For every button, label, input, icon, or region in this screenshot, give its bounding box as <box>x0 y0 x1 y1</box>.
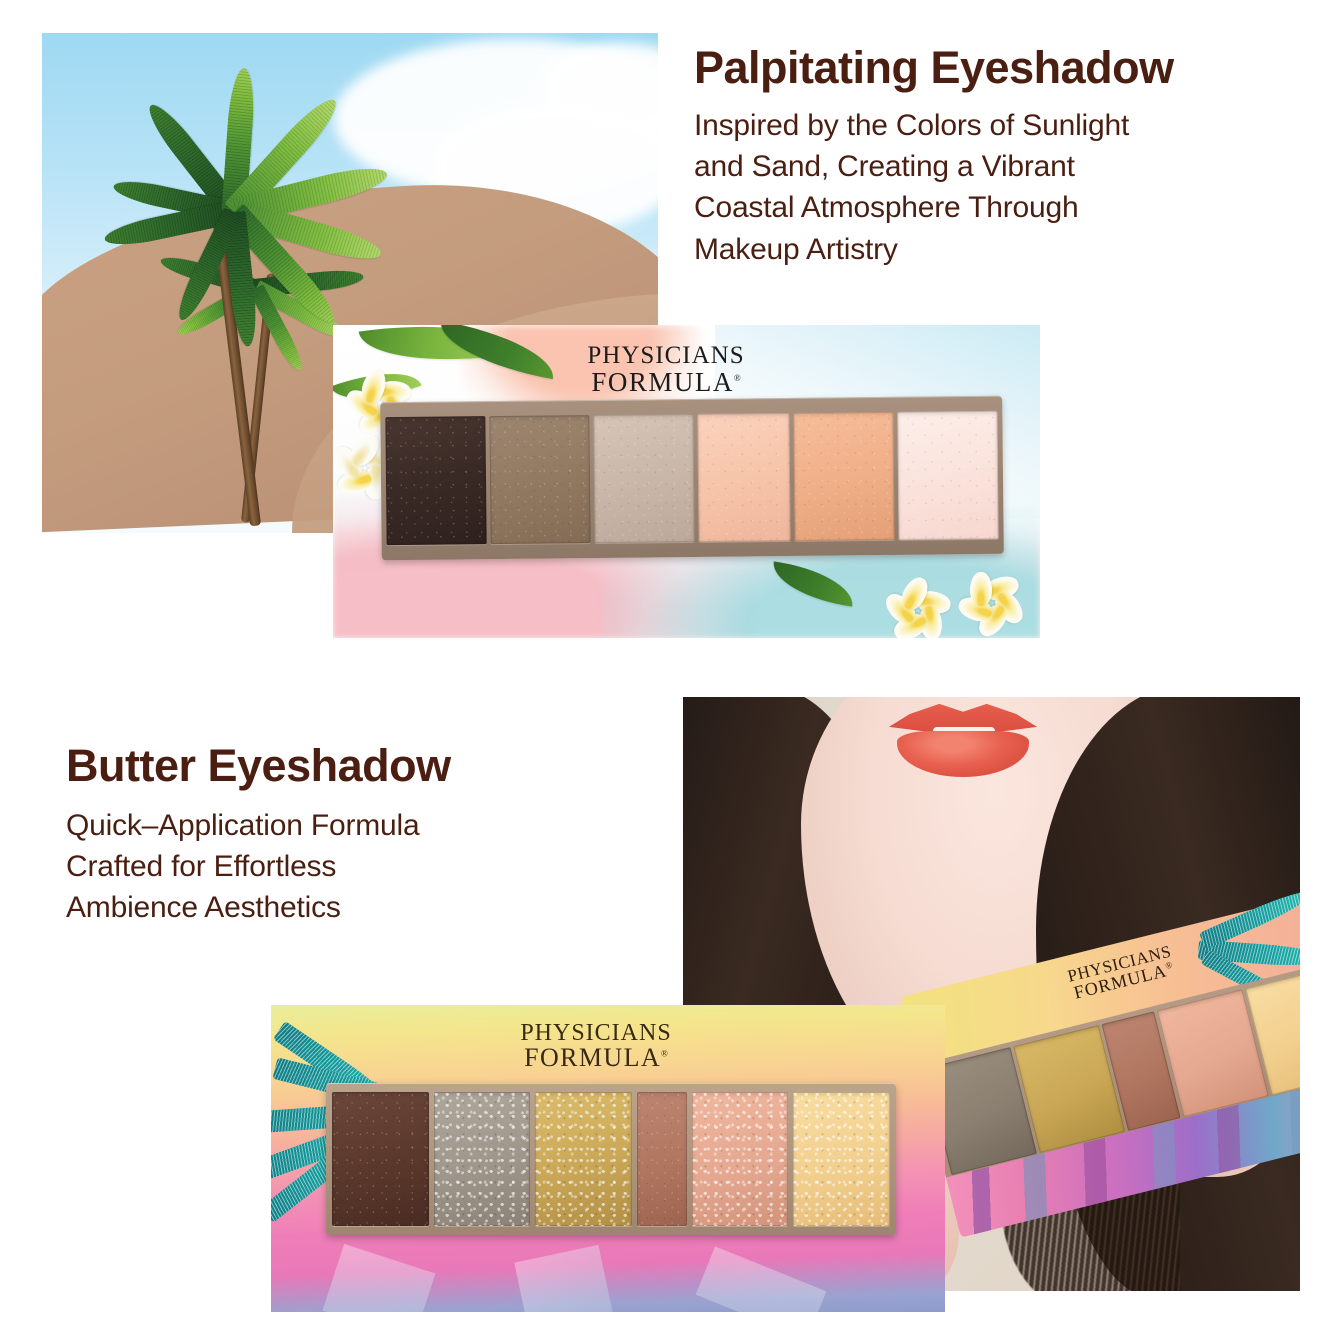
brand-line-1: PHYSICIANS <box>551 343 781 369</box>
subtitle-line: Makeup Artistry <box>694 229 1314 270</box>
eyeshadow-pan[interactable] <box>692 1092 789 1226</box>
eyeshadow-pan[interactable] <box>332 1092 429 1226</box>
brand-line-1: PHYSICIANS <box>476 1021 716 1045</box>
eyeshadow-pan[interactable] <box>897 411 998 540</box>
subtitle-line: Ambience Aesthetics <box>66 887 666 928</box>
page-title-bottom: Butter Eyeshadow <box>66 742 666 789</box>
top-section-text: Palpitating Eyeshadow Inspired by the Co… <box>694 44 1314 270</box>
subtitle-line: Inspired by the Colors of Sunlight <box>694 105 1314 146</box>
flower-petal <box>970 572 992 606</box>
page-title-top: Palpitating Eyeshadow <box>694 44 1314 91</box>
brand-logo-top: PHYSICIANS FORMULA® <box>551 343 781 396</box>
product-marketing-page: Palpitating Eyeshadow Inspired by the Co… <box>0 0 1340 1340</box>
eyeshadow-pan[interactable] <box>697 413 790 542</box>
plumeria-flower-yellow <box>879 561 957 638</box>
eyeshadow-pan[interactable] <box>489 415 590 544</box>
eyeshadow-pan[interactable] <box>637 1092 687 1226</box>
registered-mark: ® <box>734 373 741 383</box>
eyeshadow-pan[interactable] <box>385 416 486 545</box>
eyeshadow-pan[interactable] <box>593 414 694 543</box>
brand-line-2: FORMULA® <box>476 1045 716 1072</box>
registered-mark: ® <box>661 1049 668 1059</box>
subtitle-line: and Sand, Creating a Vibrant <box>694 146 1314 187</box>
brand-line-2: FORMULA® <box>551 369 781 397</box>
eyeshadow-pan[interactable] <box>793 412 894 541</box>
bottom-section-text: Butter Eyeshadow Quick–Application Formu… <box>66 742 666 929</box>
eyeshadow-pan-tray-top <box>380 396 1004 561</box>
subtitle-line: Quick–Application Formula <box>66 805 666 846</box>
model-lips <box>889 701 1037 779</box>
lower-lip <box>897 731 1029 777</box>
eyeshadow-pan[interactable] <box>535 1092 632 1226</box>
subtitle-top: Inspired by the Colors of Sunlight and S… <box>694 105 1314 269</box>
eyeshadow-pan[interactable] <box>434 1092 531 1226</box>
registered-mark: ® <box>1164 960 1173 971</box>
plumeria-flower-yellow <box>947 547 1037 637</box>
eyeshadow-pan[interactable] <box>793 1092 890 1226</box>
brand-logo-bottom: PHYSICIANS FORMULA® <box>476 1021 716 1072</box>
palpitating-eyeshadow-palette: PHYSICIANS FORMULA® <box>333 325 1040 638</box>
subtitle-bottom: Quick–Application Formula Crafted for Ef… <box>66 805 666 928</box>
butter-eyeshadow-palette: PHYSICIANS FORMULA® <box>271 1005 945 1312</box>
subtitle-line: Coastal Atmosphere Through <box>694 187 1314 228</box>
subtitle-line: Crafted for Effortless <box>66 846 666 887</box>
eyeshadow-pan-tray-bottom <box>326 1083 896 1235</box>
